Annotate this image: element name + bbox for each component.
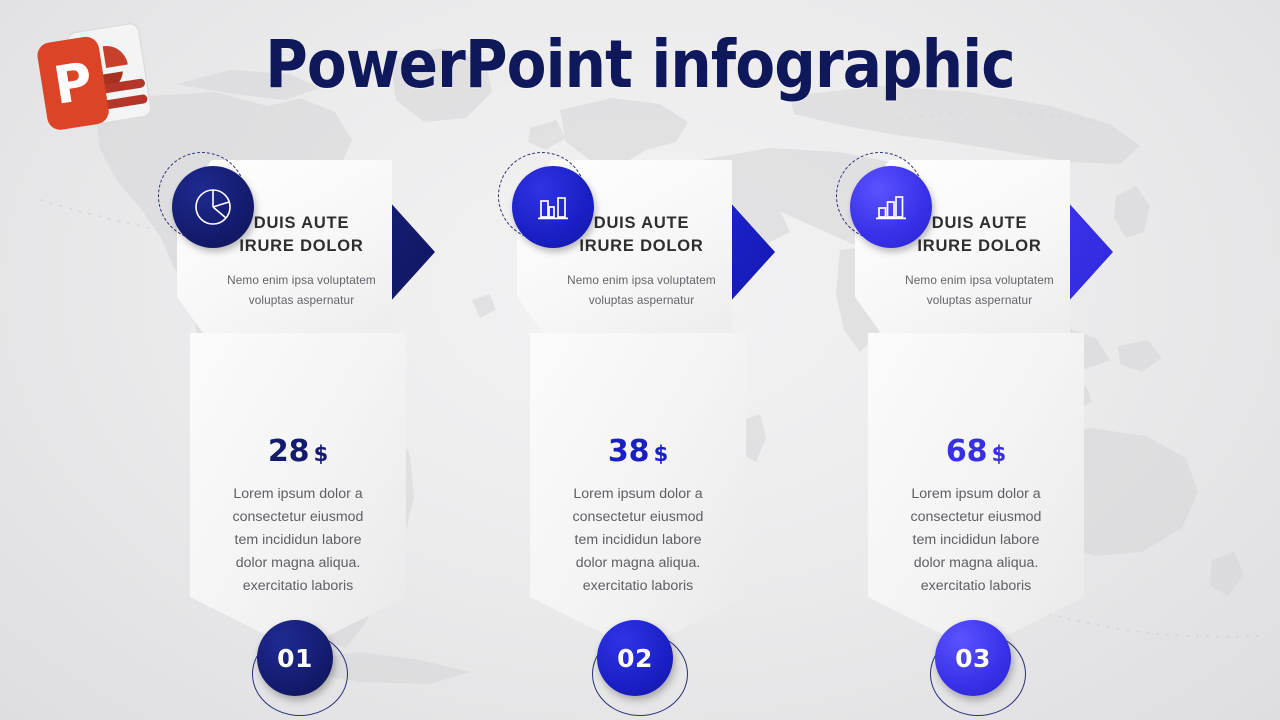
number-badge-2[interactable]: 02 [597, 620, 673, 696]
amount-2: 38$ [530, 437, 746, 467]
body-line-4: dolor magna aliqua. [546, 552, 730, 575]
amount-3: 68$ [868, 437, 1084, 467]
icon-badge-3 [836, 152, 946, 262]
icon-badge-2 [498, 152, 608, 262]
hexagon-subtitle-line2: voluptas aspernatur [225, 290, 378, 311]
slide-canvas: P PowerPoint infographic DUIS AUTE IRURE… [0, 0, 1280, 720]
body-line-2: consectetur eiusmod [546, 506, 730, 529]
currency-symbol-1: $ [314, 442, 329, 466]
body-line-5: exercitatio laboris [884, 575, 1068, 598]
pie-chart-icon [191, 185, 235, 229]
body-line-1: Lorem ipsum dolor a [884, 483, 1068, 506]
hexagon-subtitle-3: Nemo enim ipsa voluptatem voluptas asper… [903, 270, 1056, 311]
icon-circle-2[interactable] [512, 166, 594, 248]
amount-value-3: 68 [946, 434, 988, 469]
body-line-2: consectetur eiusmod [884, 506, 1068, 529]
hexagon-subtitle-line2: voluptas aspernatur [903, 290, 1056, 311]
number-badge-wrap-2: 02 [590, 620, 690, 720]
body-line-1: Lorem ipsum dolor a [206, 483, 390, 506]
hexagon-subtitle-line2: voluptas aspernatur [565, 290, 718, 311]
value-ribbon-1[interactable]: 28$ Lorem ipsum dolor a consectetur eius… [190, 333, 406, 651]
bar-chart-two-icon [531, 185, 575, 229]
number-badge-wrap-1: 01 [250, 620, 350, 720]
body-line-1: Lorem ipsum dolor a [546, 483, 730, 506]
body-line-3: tem incididun labore [206, 529, 390, 552]
currency-symbol-2: $ [654, 442, 669, 466]
amount-value-2: 38 [608, 434, 650, 469]
body-line-3: tem incididun labore [546, 529, 730, 552]
ribbon-body-3: Lorem ipsum dolor a consectetur eiusmod … [868, 483, 1084, 598]
number-badge-1[interactable]: 01 [257, 620, 333, 696]
infographic-column-3: DUIS AUTE IRURE DOLOR Nemo enim ipsa vol… [790, 0, 1150, 720]
number-badge-wrap-3: 03 [928, 620, 1028, 720]
icon-circle-3[interactable] [850, 166, 932, 248]
body-line-4: dolor magna aliqua. [206, 552, 390, 575]
amount-value-1: 28 [268, 434, 310, 469]
infographic-column-1: DUIS AUTE IRURE DOLOR Nemo enim ipsa vol… [112, 0, 472, 720]
ribbon-body-2: Lorem ipsum dolor a consectetur eiusmod … [530, 483, 746, 598]
currency-symbol-3: $ [992, 442, 1007, 466]
bar-chart-three-icon [869, 185, 913, 229]
body-line-3: tem incididun labore [884, 529, 1068, 552]
icon-badge-1 [158, 152, 268, 262]
hexagon-subtitle-2: Nemo enim ipsa voluptatem voluptas asper… [565, 270, 718, 311]
hexagon-subtitle-line1: Nemo enim ipsa voluptatem [565, 270, 718, 291]
number-badge-3[interactable]: 03 [935, 620, 1011, 696]
hexagon-subtitle-1: Nemo enim ipsa voluptatem voluptas asper… [225, 270, 378, 311]
infographic-column-2: DUIS AUTE IRURE DOLOR Nemo enim ipsa vol… [452, 0, 812, 720]
amount-1: 28$ [190, 437, 406, 467]
body-line-2: consectetur eiusmod [206, 506, 390, 529]
body-line-4: dolor magna aliqua. [884, 552, 1068, 575]
hexagon-subtitle-line1: Nemo enim ipsa voluptatem [225, 270, 378, 291]
hexagon-subtitle-line1: Nemo enim ipsa voluptatem [903, 270, 1056, 291]
body-line-5: exercitatio laboris [206, 575, 390, 598]
icon-circle-1[interactable] [172, 166, 254, 248]
value-ribbon-2[interactable]: 38$ Lorem ipsum dolor a consectetur eius… [530, 333, 746, 651]
ribbon-body-1: Lorem ipsum dolor a consectetur eiusmod … [190, 483, 406, 598]
value-ribbon-3[interactable]: 68$ Lorem ipsum dolor a consectetur eius… [868, 333, 1084, 651]
body-line-5: exercitatio laboris [546, 575, 730, 598]
